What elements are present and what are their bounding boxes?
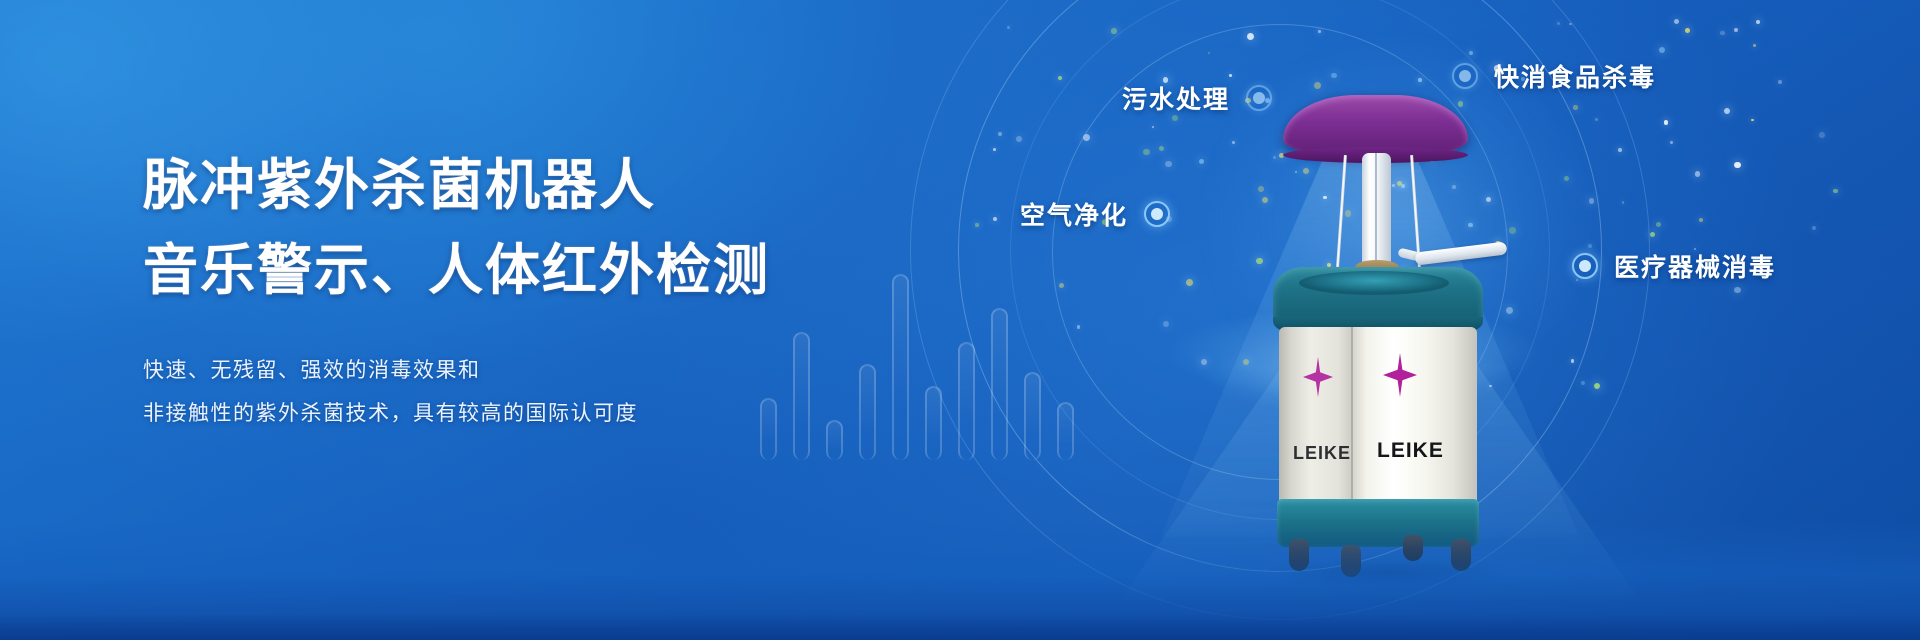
- sparkle-particle: [1751, 119, 1754, 122]
- sparkle-particle: [1143, 149, 1149, 155]
- lamp-support-rod-left: [1336, 155, 1347, 267]
- sparkle-particle: [1007, 26, 1010, 29]
- body-panel: [1279, 327, 1477, 505]
- sparkle-particle: [1509, 227, 1515, 233]
- uv-lamp-tube-seam: [1375, 153, 1377, 261]
- brand-label-right: LEIKE: [1377, 439, 1444, 463]
- sparkle-particle: [1016, 136, 1022, 142]
- waveform-bar: [1057, 402, 1074, 460]
- ring-node-icon: [1144, 201, 1170, 227]
- sparkle-particle: [1695, 171, 1701, 177]
- waveform-bar: [859, 364, 876, 460]
- sparkle-particle: [1699, 218, 1703, 222]
- waveform-bar: [892, 274, 909, 460]
- ring-node-icon: [1246, 85, 1272, 111]
- sparkle-particle: [1557, 22, 1559, 24]
- feature-label: 污水处理: [1122, 80, 1230, 116]
- sparkle-particle: [1573, 105, 1577, 109]
- sparkle-particle: [975, 223, 978, 226]
- sparkle-particle: [1819, 132, 1825, 138]
- waveform-bar: [958, 342, 975, 460]
- uv-disinfection-robot: LEIKE LEIKE: [1255, 95, 1505, 575]
- ring-node-icon: [1452, 63, 1478, 89]
- sparkle-particle: [1201, 359, 1207, 365]
- sparkle-particle: [1418, 78, 1422, 82]
- body-panel-fold: [1351, 327, 1353, 505]
- sparkle-particle: [1756, 20, 1761, 25]
- feature-wastewater-treatment[interactable]: 污水处理: [1122, 80, 1272, 116]
- page-subtitle: 音乐警示、人体红外检测: [143, 235, 843, 308]
- feature-medical-device-disinfection[interactable]: 医疗器械消毒: [1572, 248, 1776, 284]
- feature-label: 空气净化: [1020, 196, 1128, 232]
- sparkle-particle: [1595, 118, 1598, 121]
- sparkle-particle: [1778, 80, 1782, 84]
- waveform-bar: [991, 308, 1008, 460]
- top-plate: [1299, 271, 1449, 295]
- sparkle-particle: [1232, 141, 1235, 144]
- sparkle-particle: [1589, 198, 1595, 204]
- sparkle-particle: [1734, 287, 1741, 294]
- sparkle-particle: [1569, 23, 1571, 25]
- sparkle-particle: [1318, 30, 1321, 33]
- ring-node-icon: [1572, 253, 1598, 279]
- floor-baseline: [0, 614, 1920, 640]
- feature-label: 医疗器械消毒: [1614, 248, 1776, 284]
- body-copy: 快速、无残留、强效的消毒效果和 非接触性的紫外杀菌技术，具有较高的国际认可度: [143, 349, 843, 435]
- headline-block: 脉冲紫外杀菌机器人 音乐警示、人体红外检测 快速、无残留、强效的消毒效果和 非接…: [143, 150, 843, 435]
- feature-fmcg-food-sterilization[interactable]: 快消食品杀毒: [1452, 58, 1656, 94]
- body-line-1: 快速、无残留、强效的消毒效果和: [143, 349, 843, 392]
- push-handle: [1415, 241, 1508, 265]
- sparkle-particle: [1812, 226, 1816, 230]
- sparkle-particle: [1243, 359, 1249, 365]
- waveform-bar: [1024, 372, 1041, 460]
- sparkle-particle: [1833, 189, 1837, 193]
- feature-air-purification[interactable]: 空气净化: [1020, 196, 1170, 232]
- sparkle-particle: [1734, 28, 1739, 33]
- sparkle-particle: [1724, 108, 1730, 114]
- feature-label: 快消食品杀毒: [1494, 58, 1656, 94]
- sparkle-particle: [1720, 31, 1724, 35]
- sparkle-particle: [1753, 44, 1756, 47]
- sparkle-particle: [1469, 51, 1473, 55]
- body-line-2: 非接触性的紫外杀菌技术，具有较高的国际认可度: [143, 392, 843, 435]
- sparkle-particle: [1618, 148, 1622, 152]
- sparkle-particle: [1186, 279, 1193, 286]
- page-title: 脉冲紫外杀菌机器人: [143, 150, 843, 223]
- sparkle-particle: [1664, 120, 1669, 125]
- sparkle-particle: [1165, 161, 1171, 167]
- sparkle-particle: [1685, 28, 1690, 33]
- sparkle-particle: [1159, 146, 1164, 151]
- waveform-bar: [925, 386, 942, 460]
- brand-label-left: LEIKE: [1293, 443, 1351, 464]
- promo-banner: 脉冲紫外杀菌机器人 音乐警示、人体红外检测 快速、无残留、强效的消毒效果和 非接…: [0, 0, 1920, 640]
- sparkle-particle: [1734, 162, 1741, 169]
- sparkle-particle: [1314, 82, 1321, 89]
- sparkle-particle: [1111, 28, 1117, 34]
